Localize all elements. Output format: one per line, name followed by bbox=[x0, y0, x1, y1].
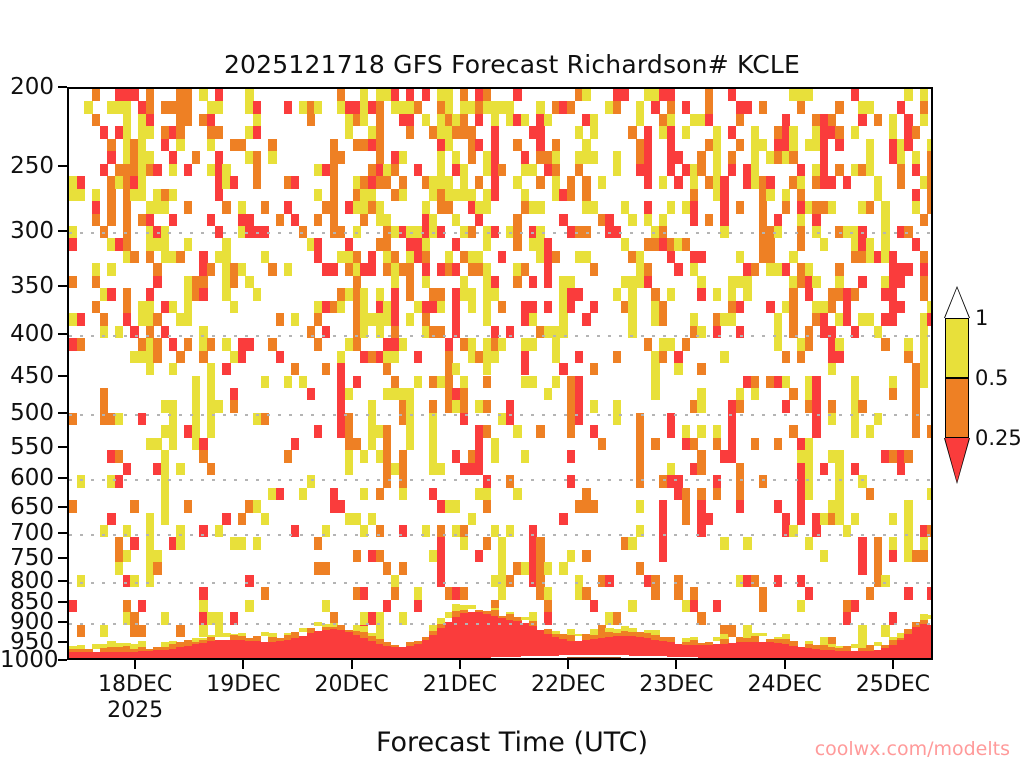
terrain-block bbox=[651, 658, 659, 660]
colorbar-segment-yellow bbox=[945, 318, 969, 378]
x-tick-mark bbox=[784, 660, 786, 669]
surface-gap bbox=[192, 659, 200, 660]
surface-gap bbox=[437, 659, 445, 660]
x-tick-mark bbox=[675, 660, 677, 669]
surface-gap bbox=[261, 659, 269, 660]
x-tick-label: 24DEC bbox=[748, 672, 822, 697]
terrain-block bbox=[667, 659, 675, 660]
x-tick-label: 18DEC bbox=[98, 672, 172, 697]
y-tick-label: 200 bbox=[0, 74, 54, 100]
surface-gap bbox=[245, 659, 253, 660]
surface-gap bbox=[475, 658, 483, 660]
y-tick-label: 300 bbox=[0, 218, 54, 244]
y-tick-mark bbox=[58, 621, 67, 623]
colorbar-label-025: 0.25 bbox=[975, 426, 1022, 450]
colorbar-label-1: 1 bbox=[975, 306, 988, 330]
surface-gap bbox=[468, 658, 476, 660]
y-tick-label: 250 bbox=[0, 153, 54, 179]
y-tick-label: 650 bbox=[0, 494, 54, 520]
surface-gap bbox=[713, 658, 721, 660]
surface-gap bbox=[874, 659, 882, 660]
y-tick-mark bbox=[58, 285, 67, 287]
surface-gap bbox=[176, 659, 184, 660]
y-tick-mark bbox=[58, 333, 67, 335]
colorbar-arrow-down bbox=[945, 438, 969, 482]
y-tick-mark bbox=[58, 477, 67, 479]
terrain-block bbox=[536, 658, 544, 660]
x-tick-mark bbox=[892, 660, 894, 669]
surface-gap bbox=[828, 659, 836, 660]
y-tick-mark bbox=[58, 86, 67, 88]
colorbar: 1 0.5 0.25 bbox=[945, 318, 969, 438]
y-tick-label: 500 bbox=[0, 400, 54, 426]
surface-gap bbox=[705, 658, 713, 660]
y-tick-mark bbox=[58, 230, 67, 232]
surface-gap bbox=[184, 659, 192, 660]
y-tick-mark bbox=[58, 446, 67, 448]
y-tick-mark bbox=[58, 375, 67, 377]
y-tick-mark bbox=[58, 659, 67, 661]
x-tick-label: 25DEC bbox=[856, 672, 930, 697]
colorbar-arrow-up bbox=[945, 288, 969, 318]
y-tick-label: 700 bbox=[0, 520, 54, 546]
terrain-block bbox=[544, 658, 552, 660]
colorbar-label-05: 0.5 bbox=[975, 366, 1008, 390]
terrain-block bbox=[513, 659, 521, 660]
surface-gap bbox=[851, 659, 859, 660]
y-tick-mark bbox=[58, 601, 67, 603]
surface-gap bbox=[858, 659, 866, 660]
y-tick-mark bbox=[58, 557, 67, 559]
surface-gap bbox=[284, 659, 292, 660]
surface-gap bbox=[759, 659, 767, 660]
surface-gap bbox=[720, 658, 728, 660]
terrain-block bbox=[628, 658, 636, 660]
x-tick-label: 21DEC bbox=[423, 672, 497, 697]
surface-gap bbox=[222, 659, 230, 660]
surface-gap bbox=[766, 659, 774, 660]
y-tick-label: 350 bbox=[0, 273, 54, 299]
surface-gap bbox=[904, 658, 912, 660]
colorbar-segment-orange bbox=[945, 378, 969, 438]
terrain-block bbox=[644, 658, 652, 660]
surface-gap bbox=[881, 659, 889, 660]
x-tick-label: 20DEC bbox=[315, 672, 389, 697]
surface-gap bbox=[912, 658, 920, 660]
x-tick-mark bbox=[134, 660, 136, 669]
y-tick-mark bbox=[58, 412, 67, 414]
surface-gap bbox=[445, 659, 453, 660]
terrain-block bbox=[521, 659, 529, 660]
chart-title: 2025121718 GFS Forecast Richardson# KCLE bbox=[0, 50, 1024, 79]
surface-gap bbox=[276, 659, 284, 660]
surface-gap bbox=[843, 659, 851, 660]
x-tick-mark bbox=[567, 660, 569, 669]
surface-gap bbox=[927, 658, 933, 660]
y-tick-label: 400 bbox=[0, 321, 54, 347]
surface-gap bbox=[161, 659, 169, 660]
surface-gap bbox=[697, 658, 705, 660]
x-tick-label: 19DEC bbox=[206, 672, 280, 697]
surface-gap bbox=[820, 659, 828, 660]
surface-gap bbox=[199, 659, 207, 660]
y-tick-mark bbox=[58, 165, 67, 167]
surface-gap bbox=[751, 659, 759, 660]
surface-gap bbox=[920, 658, 928, 660]
y-tick-label: 550 bbox=[0, 434, 54, 460]
y-tick-label: 1000 bbox=[0, 647, 54, 673]
surface-gap bbox=[253, 659, 261, 660]
surface-gap bbox=[866, 659, 874, 660]
terrain-block bbox=[636, 658, 644, 660]
terrain-block bbox=[506, 659, 514, 660]
surface-gap bbox=[835, 659, 843, 660]
terrain-block bbox=[529, 658, 537, 660]
x-tick-mark bbox=[459, 660, 461, 669]
x-tick-mark bbox=[351, 660, 353, 669]
terrain-fill bbox=[69, 89, 931, 658]
surface-gap bbox=[483, 658, 491, 660]
x-tick-label: 23DEC bbox=[639, 672, 713, 697]
surface-gap bbox=[736, 659, 744, 660]
terrain-block bbox=[682, 659, 690, 660]
y-tick-mark bbox=[58, 532, 67, 534]
terrain-block bbox=[552, 658, 560, 660]
surface-gap bbox=[169, 659, 177, 660]
surface-gap bbox=[460, 659, 468, 660]
watermark: coolwx.com/modelts bbox=[815, 738, 1010, 760]
surface-gap bbox=[728, 659, 736, 660]
terrain-block bbox=[498, 659, 506, 660]
y-tick-label: 450 bbox=[0, 363, 54, 389]
surface-gap bbox=[207, 659, 215, 660]
surface-gap bbox=[268, 659, 276, 660]
surface-gap bbox=[743, 659, 751, 660]
surface-gap bbox=[774, 660, 782, 661]
x-tick-label: 22DEC bbox=[531, 672, 605, 697]
x-tick-mark bbox=[242, 660, 244, 669]
plot-area bbox=[67, 87, 933, 660]
surface-gap bbox=[215, 659, 223, 660]
y-tick-mark bbox=[58, 580, 67, 582]
terrain-block bbox=[659, 659, 667, 660]
y-tick-label: 600 bbox=[0, 465, 54, 491]
surface-gap bbox=[230, 659, 238, 660]
x-tick-sublabel: 2025 bbox=[107, 698, 163, 723]
y-tick-mark bbox=[58, 506, 67, 508]
y-tick-mark bbox=[58, 641, 67, 643]
chart-canvas: 2025121718 GFS Forecast Richardson# KCLE… bbox=[0, 0, 1024, 768]
surface-gap bbox=[897, 659, 905, 660]
